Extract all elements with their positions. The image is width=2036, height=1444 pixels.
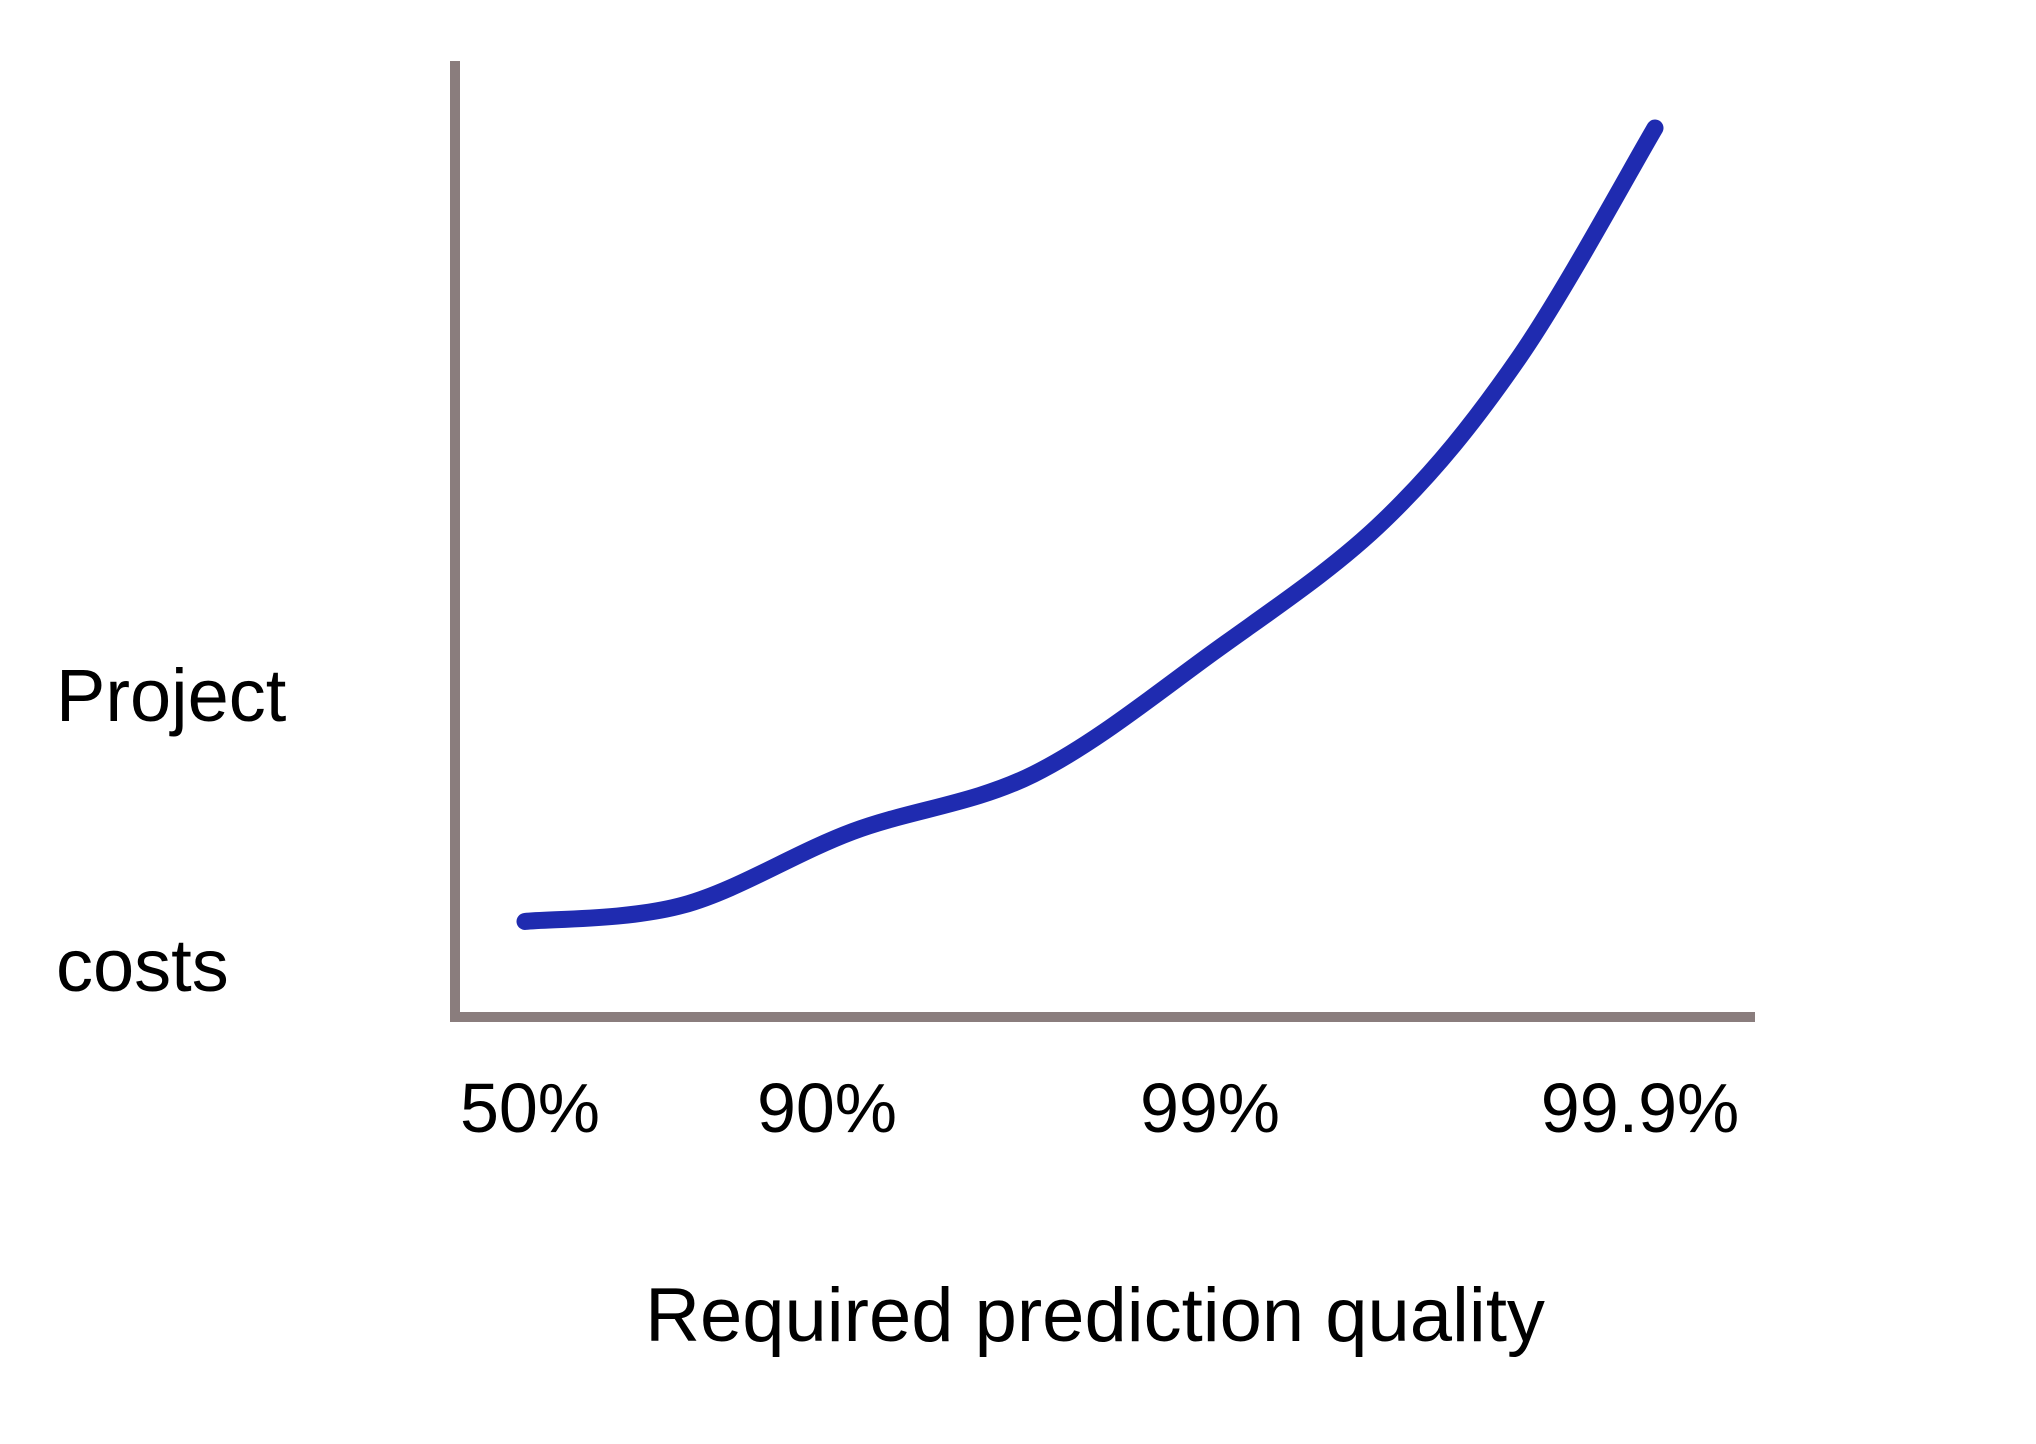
cost-curve-line	[525, 128, 1655, 921]
y-axis-title: Project costs	[56, 470, 436, 1192]
x-tick-label-99: 99%	[1140, 1068, 1280, 1148]
x-tick-label-50: 50%	[460, 1068, 600, 1148]
x-axis-title: Required prediction quality	[340, 1270, 1850, 1363]
x-tick-label-99-9: 99.9%	[1541, 1068, 1739, 1148]
y-axis-title-line-1: Project	[56, 651, 436, 741]
y-axis-title-line-2: costs	[56, 921, 436, 1011]
chart-figure: Project costs 50% 90% 99% 99.9% Required…	[0, 0, 2036, 1444]
x-tick-label-90: 90%	[757, 1068, 897, 1148]
